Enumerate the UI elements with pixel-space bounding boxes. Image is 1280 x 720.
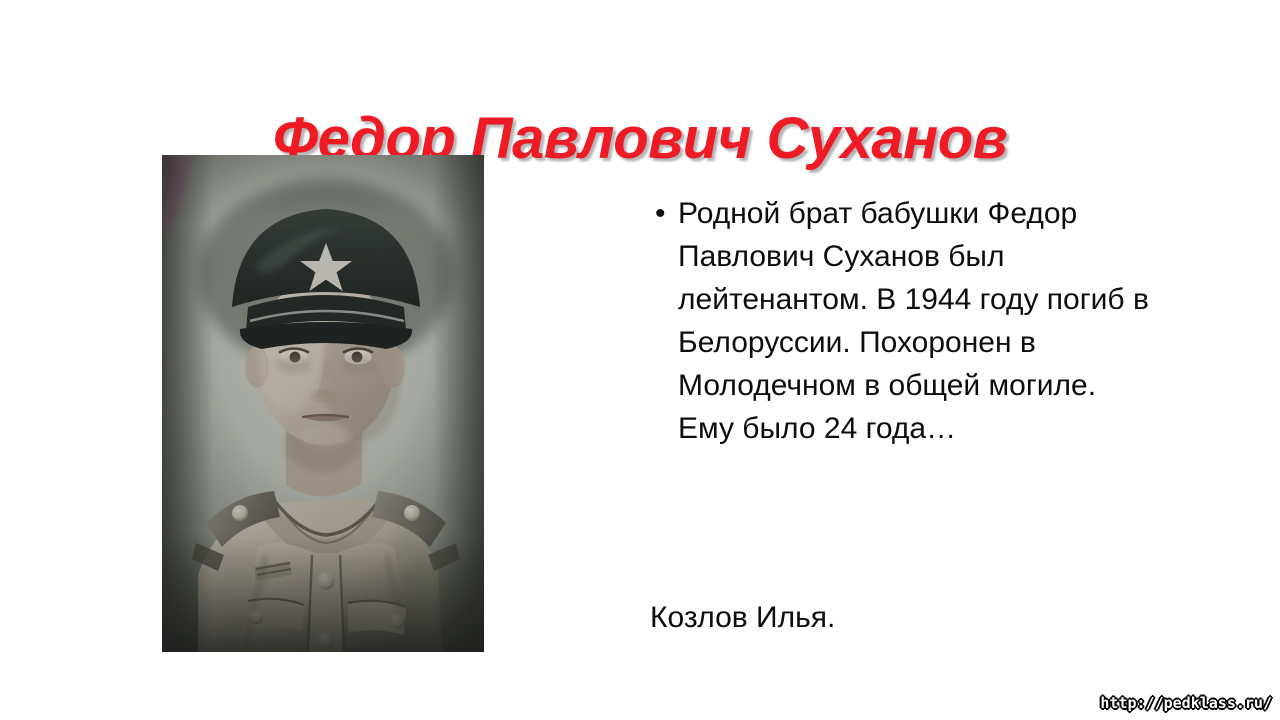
body-text-column: • Родной брат бабушки Федор Павлович Сух… — [650, 192, 1160, 450]
portrait-illustration — [162, 155, 484, 652]
list-item: • Родной брат бабушки Федор Павлович Сух… — [650, 192, 1160, 450]
slide-canvas: Федор Павлович Суханов — [0, 0, 1280, 720]
list-item-text: Родной брат бабушки Федор Павлович Сухан… — [678, 197, 1149, 445]
author-signature: Козлов Илья. — [650, 596, 1160, 639]
bullet-icon: • — [655, 192, 666, 235]
site-watermark: http://pedklass.ru/ — [1100, 694, 1272, 712]
portrait-photo — [162, 155, 484, 652]
